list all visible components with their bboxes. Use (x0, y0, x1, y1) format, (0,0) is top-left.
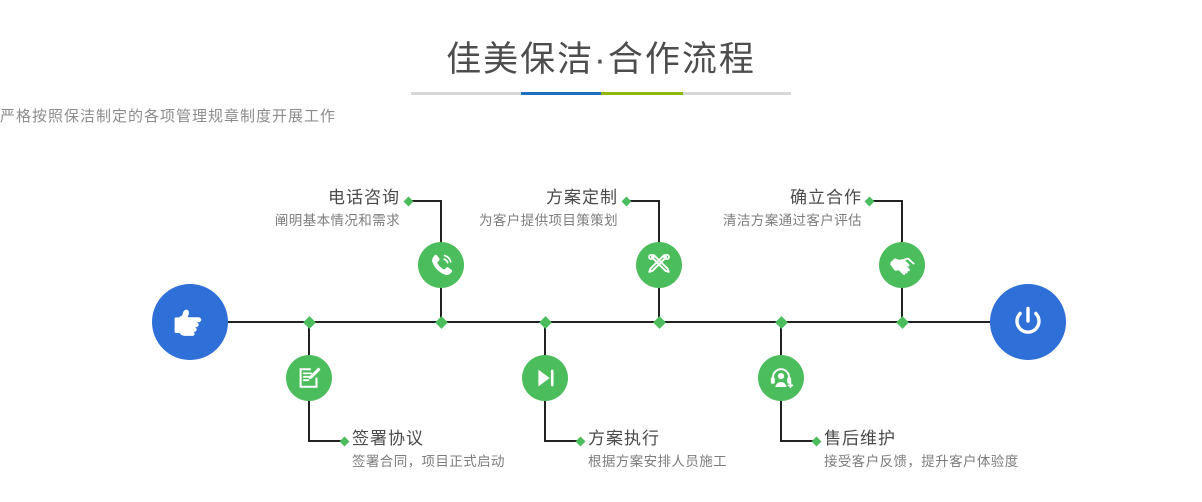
step-subtitle-6: 接受客户反馈，提升客户体验度 (824, 451, 1184, 473)
pointing-hand-icon (169, 301, 211, 343)
axis-marker-step-1 (435, 316, 448, 329)
step-icon-6[interactable] (758, 355, 804, 401)
phone-call-icon (427, 251, 455, 279)
step-label-5: 确立合作 清洁方案通过客户评估 (562, 186, 862, 232)
sign-document-icon (295, 364, 323, 392)
start-node[interactable] (152, 284, 228, 360)
axis-marker-step-6 (775, 316, 788, 329)
header: 佳美保洁·合作流程 (0, 0, 1202, 82)
step-icon-4[interactable] (522, 355, 568, 401)
step-subtitle-5: 清洁方案通过客户评估 (562, 210, 862, 232)
page-subtitle: 严格按照保洁制定的各项管理规章制度开展工作 (0, 106, 1202, 128)
axis-marker-step-2 (303, 316, 316, 329)
pencil-ruler-icon (645, 251, 673, 279)
end-node[interactable] (990, 284, 1066, 360)
title-divider (411, 92, 791, 95)
divider-green-segment (601, 92, 683, 95)
page-title: 佳美保洁·合作流程 (0, 0, 1202, 82)
play-execute-icon (531, 364, 559, 392)
process-flow-infographic: 佳美保洁·合作流程 严格按照保洁制定的各项管理规章制度开展工作 (0, 0, 1202, 502)
step-icon-1[interactable] (418, 242, 464, 288)
step-title-6: 售后维护 (824, 427, 1184, 451)
axis-marker-step-5 (896, 316, 909, 329)
divider-blue-segment (521, 92, 601, 95)
axis-marker-step-3 (653, 316, 666, 329)
label-marker-step-2 (340, 437, 350, 447)
step-icon-2[interactable] (286, 355, 332, 401)
step-icon-5[interactable] (879, 242, 925, 288)
handshake-icon (888, 251, 916, 279)
customer-support-icon (767, 364, 795, 392)
axis-marker-step-4 (539, 316, 552, 329)
label-marker-step-5 (865, 197, 875, 207)
step-title-5: 确立合作 (562, 186, 862, 210)
step-label-6: 售后维护 接受客户反馈，提升客户体验度 (824, 427, 1184, 473)
power-icon (1008, 302, 1048, 342)
step-icon-3[interactable] (636, 242, 682, 288)
